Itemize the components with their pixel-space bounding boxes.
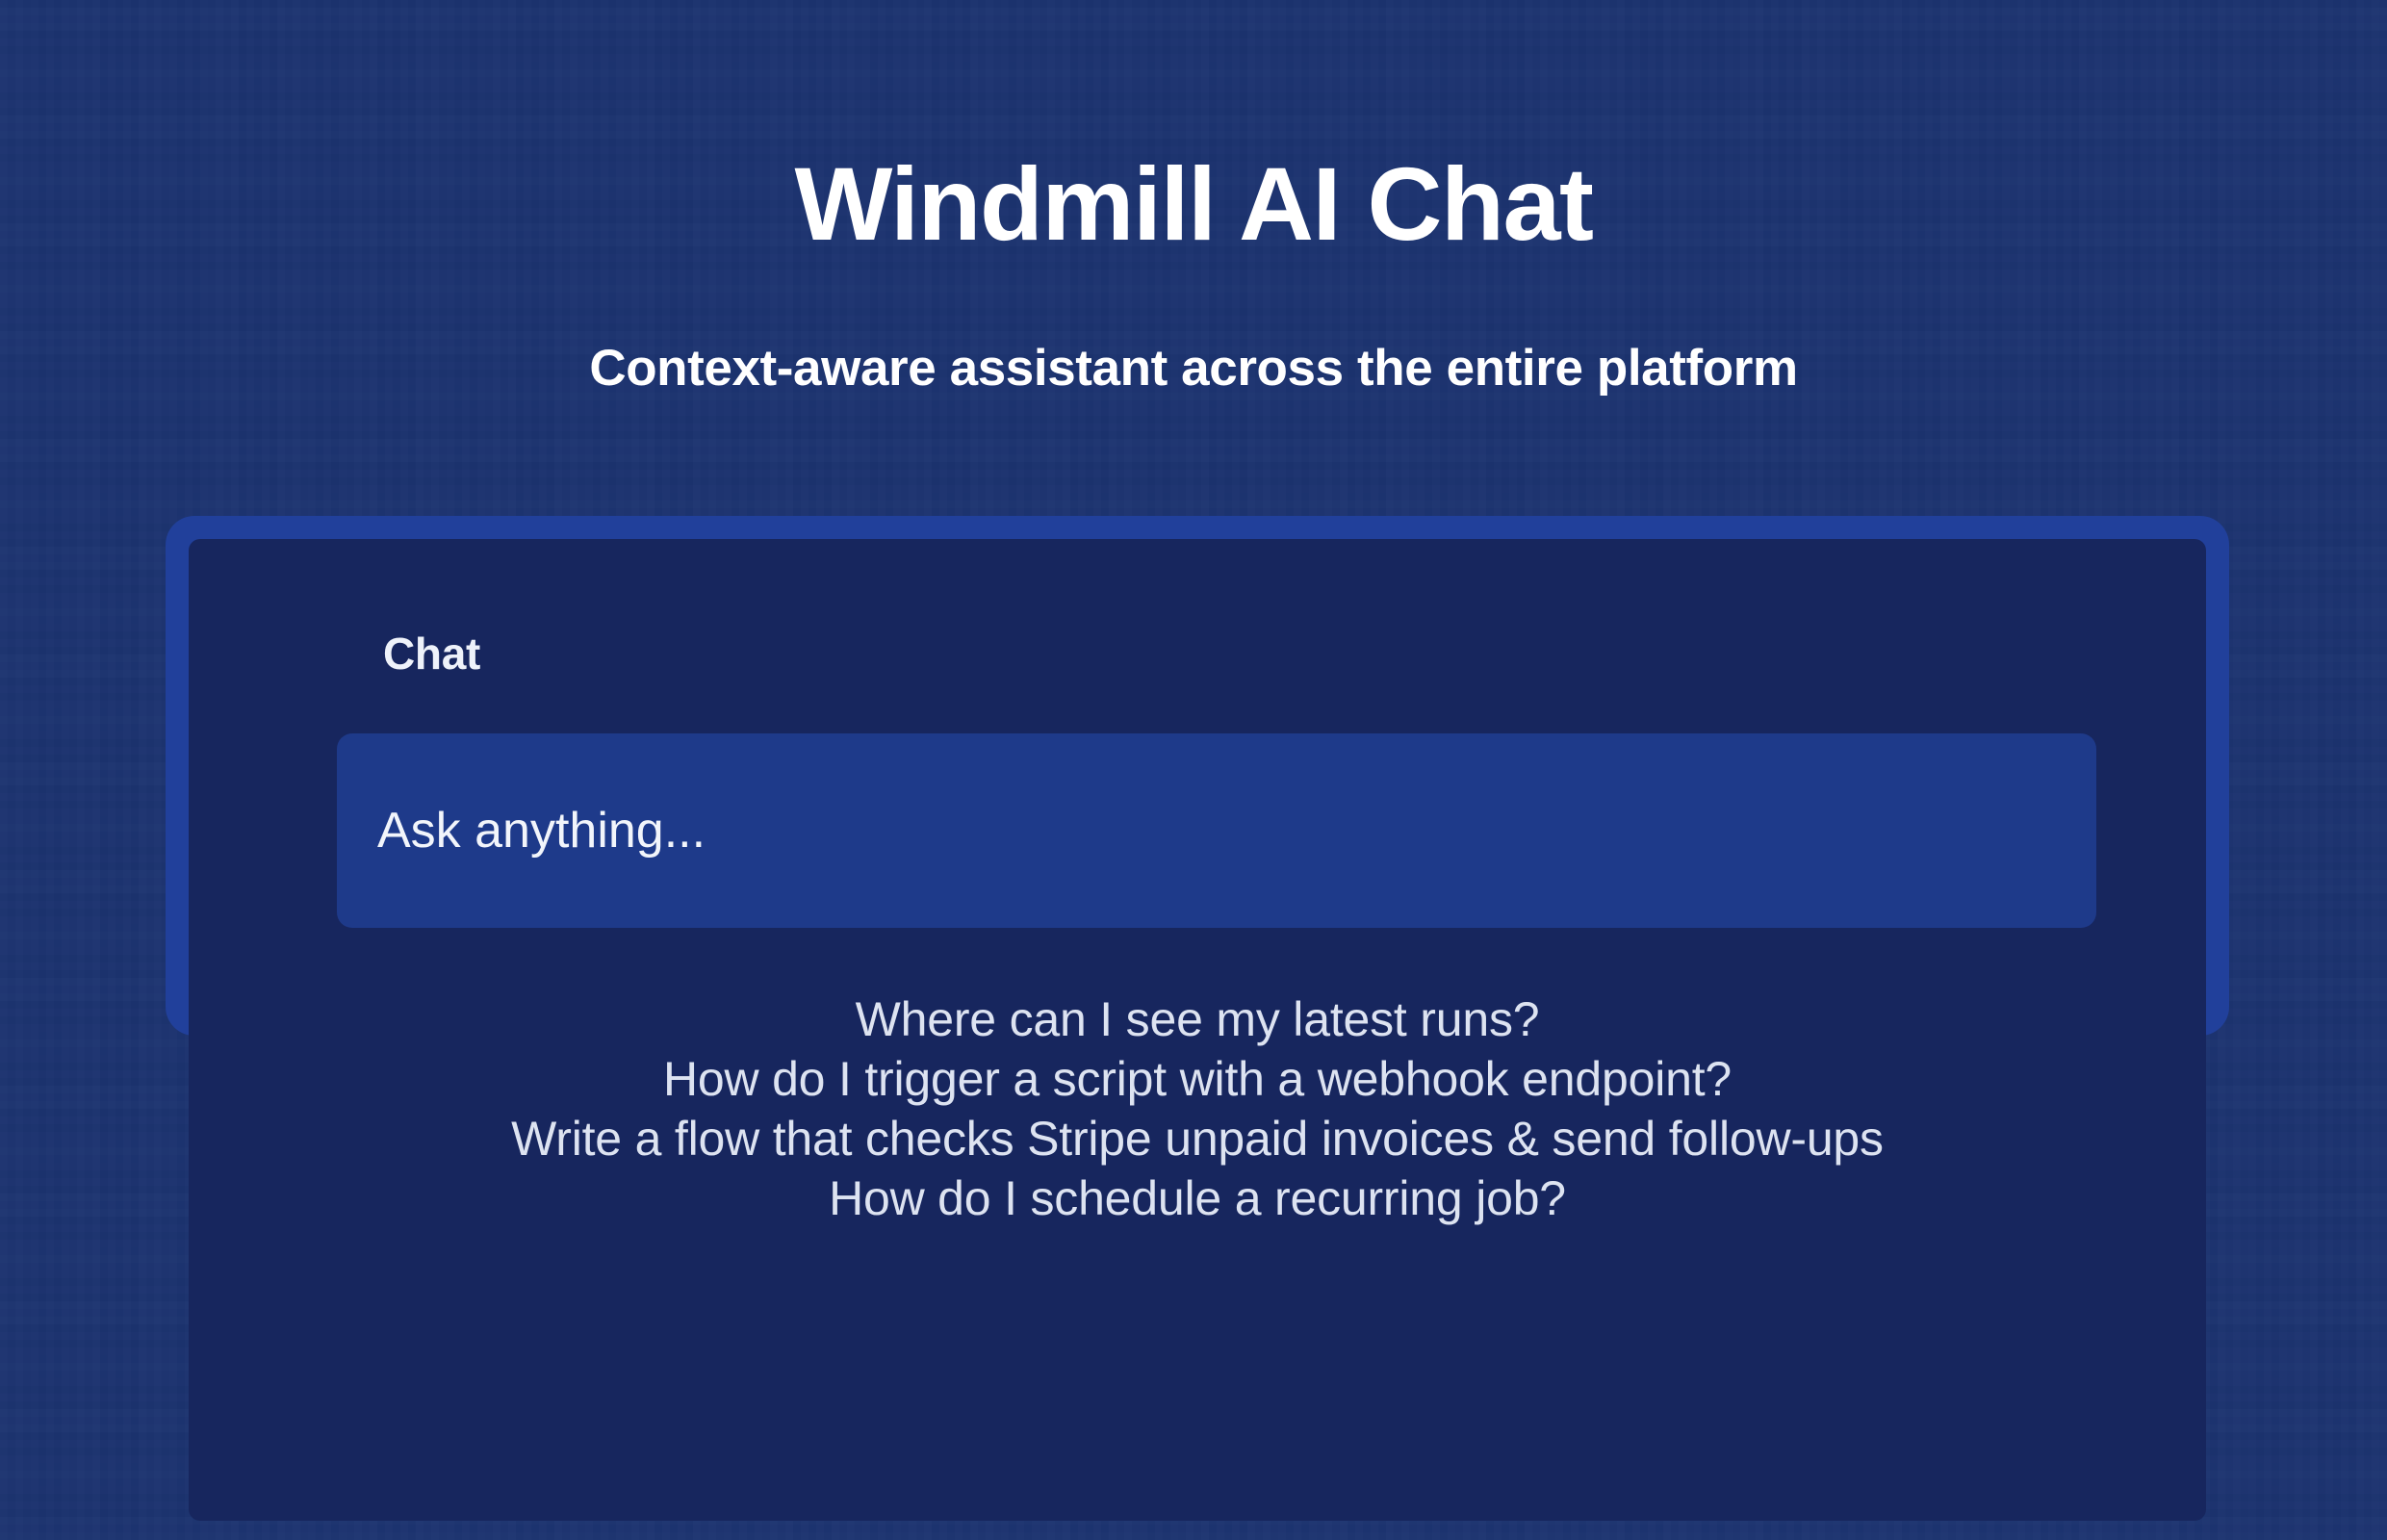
suggestion-item[interactable]: Write a flow that checks Stripe unpaid i… <box>189 1109 2206 1168</box>
suggestion-list: Where can I see my latest runs? How do I… <box>189 989 2206 1228</box>
suggestion-item[interactable]: How do I schedule a recurring job? <box>189 1168 2206 1228</box>
page-title: Windmill AI Chat <box>0 152 2387 256</box>
chat-card: Chat Where can I see my latest runs? How… <box>166 516 2229 1036</box>
suggestion-item[interactable]: How do I trigger a script with a webhook… <box>189 1049 2206 1109</box>
suggestion-item[interactable]: Where can I see my latest runs? <box>189 989 2206 1049</box>
chat-input[interactable] <box>337 733 2096 928</box>
chat-panel: Chat Where can I see my latest runs? How… <box>189 539 2206 1521</box>
chat-section-label: Chat <box>383 631 480 676</box>
page-subtitle: Context-aware assistant across the entir… <box>0 343 2387 394</box>
page-root: Windmill AI Chat Context-aware assistant… <box>0 0 2387 1540</box>
